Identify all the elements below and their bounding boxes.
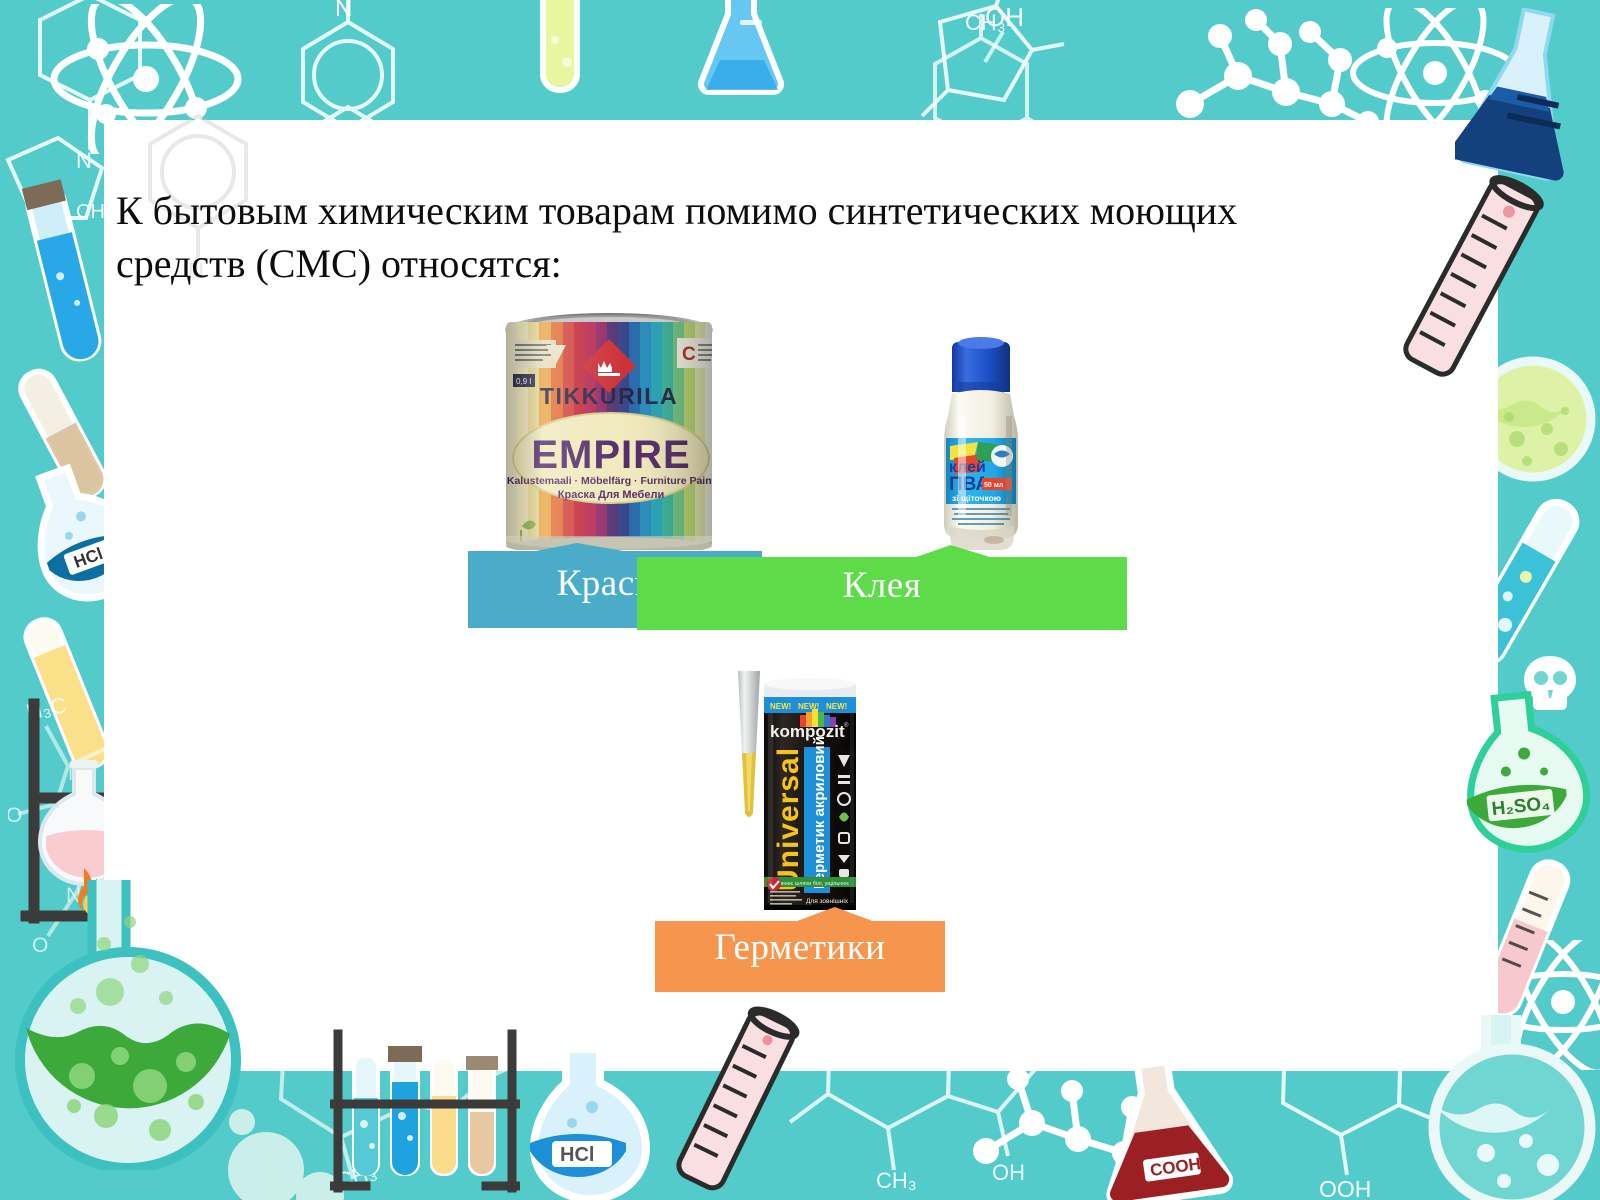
svg-text:kompozit: kompozit — [770, 722, 845, 741]
paint-can: 0,9 l C TIKKURILA — [494, 300, 724, 550]
graduated-cylinder-icon — [1390, 170, 1550, 400]
erlenmeyer-flask-icon — [690, 0, 800, 110]
svg-text:NEW!: NEW! — [770, 702, 791, 711]
svg-text:NEW!: NEW! — [826, 702, 847, 711]
erlenmeyer-flask-icon: H₂SO₄ — [1440, 690, 1600, 855]
svg-text:Герметик акриловий: Герметик акриловий — [811, 736, 828, 889]
heading-line-1: К бытовым химическим товарам помимо синт… — [116, 188, 1237, 233]
test-tube-icon — [525, 0, 595, 110]
label-banner-glues[interactable]: Клея — [637, 545, 1127, 630]
label-text-sealants: Герметики — [714, 926, 885, 973]
pva-glue-bottle: клей ПВА 50 мл зі щіточкою — [918, 330, 1048, 550]
graduated-cylinder-icon — [660, 1000, 810, 1200]
svg-text:CH₃: CH₃ — [876, 1168, 917, 1193]
test-tube-rack-icon — [330, 1020, 520, 1200]
svg-text:Universal: Universal — [772, 747, 805, 891]
svg-text:HCl: HCl — [560, 1144, 594, 1166]
svg-text:CH₃: CH₃ — [965, 14, 1006, 35]
erlenmeyer-flask-icon: COOH — [1095, 1060, 1245, 1200]
svg-text:N: N — [335, 0, 352, 22]
svg-text:OOH: OOH — [1319, 1176, 1371, 1200]
svg-text:Для зовнішніх: Для зовнішніх — [806, 897, 849, 905]
page-title: К бытовым химическим товарам помимо синт… — [116, 184, 1346, 290]
round-flask-icon — [10, 880, 260, 1170]
svg-text:®: ® — [844, 722, 849, 729]
svg-text:50 мл: 50 мл — [984, 482, 1003, 489]
acrylic-sealant-tube: NEW! NEW! NEW! kompozit ® Universal — [720, 665, 880, 915]
heading-line-2: средств (СМС) относятся: — [116, 237, 1346, 290]
erlenmeyer-flask-icon — [1455, 8, 1600, 193]
round-flask-icon — [1400, 1015, 1600, 1200]
erlenmeyer-flask-icon: HCl — [510, 1045, 660, 1200]
test-tube-icon — [20, 175, 110, 375]
label-text-glues: Клея — [843, 564, 922, 611]
